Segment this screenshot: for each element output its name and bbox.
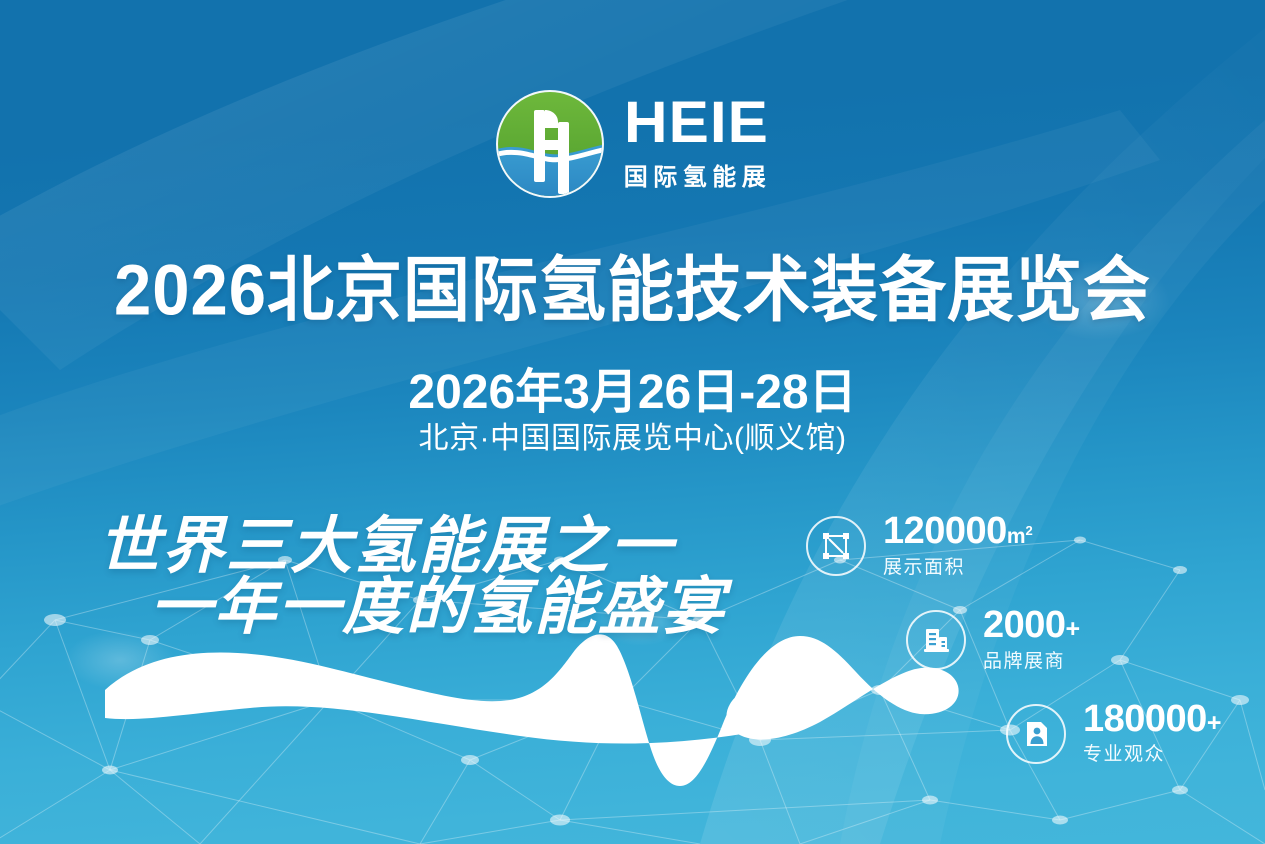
stat-brand-exhibitors: 2000+ 品牌展商 [906,606,1221,675]
brand-wordmark: HEIE 国际氢能展 [624,96,772,191]
stat-professional-visitors: 180000+ 专业观众 [1006,700,1221,769]
stat-exhibition-area: 120000m2 展示面积 [806,512,1221,581]
heie-circle-emblem-icon [494,88,606,200]
stat-value: 2000+ [983,604,1080,646]
stat-number: 180000 [1083,698,1207,740]
stats-group: 120000m2 展示面积 [806,512,1221,768]
event-date: 2026年3月26日-28日 [0,352,1265,422]
stat-label: 专业观众 [1083,739,1221,766]
stat-plus: + [1207,709,1221,737]
poster-canvas: HEIE 国际氢能展 2026北京国际氢能技术装备展览会 2026年3月26日-… [0,0,1265,844]
stat-value: 180000+ [1083,698,1221,740]
area-measure-icon [806,516,866,576]
slogan-line-1: 世界三大氢能展之一 [98,512,674,581]
wordmark-heie: HEIE [624,96,769,149]
visitor-badge-icon [1006,704,1066,764]
event-venue: 北京·中国国际展览中心(顺义馆) [0,413,1265,457]
wordmark-cn: 国际氢能展 [624,157,772,192]
page-title: 2026北京国际氢能技术装备展览会 [0,233,1265,336]
stat-text: 180000+ 专业观众 [1083,700,1221,769]
slogan: 世界三大氢能展之一 一年一度的氢能盛宴 [98,516,726,639]
stat-number: 2000 [983,604,1066,646]
stat-unit: m2 [1007,525,1033,548]
stat-text: 2000+ 品牌展商 [983,606,1080,675]
stat-text: 120000m2 展示面积 [883,512,1033,581]
slogan-line-2: 一年一度的氢能盛宴 [150,577,726,638]
stat-number: 120000 [883,510,1007,552]
stat-value: 120000m2 [883,510,1033,552]
building-exhibitor-icon [906,610,966,670]
brand-lockup: HEIE 国际氢能展 [0,88,1265,200]
stat-label: 展示面积 [883,552,1033,579]
stat-plus: + [1066,615,1080,643]
stat-label: 品牌展商 [983,646,1080,673]
